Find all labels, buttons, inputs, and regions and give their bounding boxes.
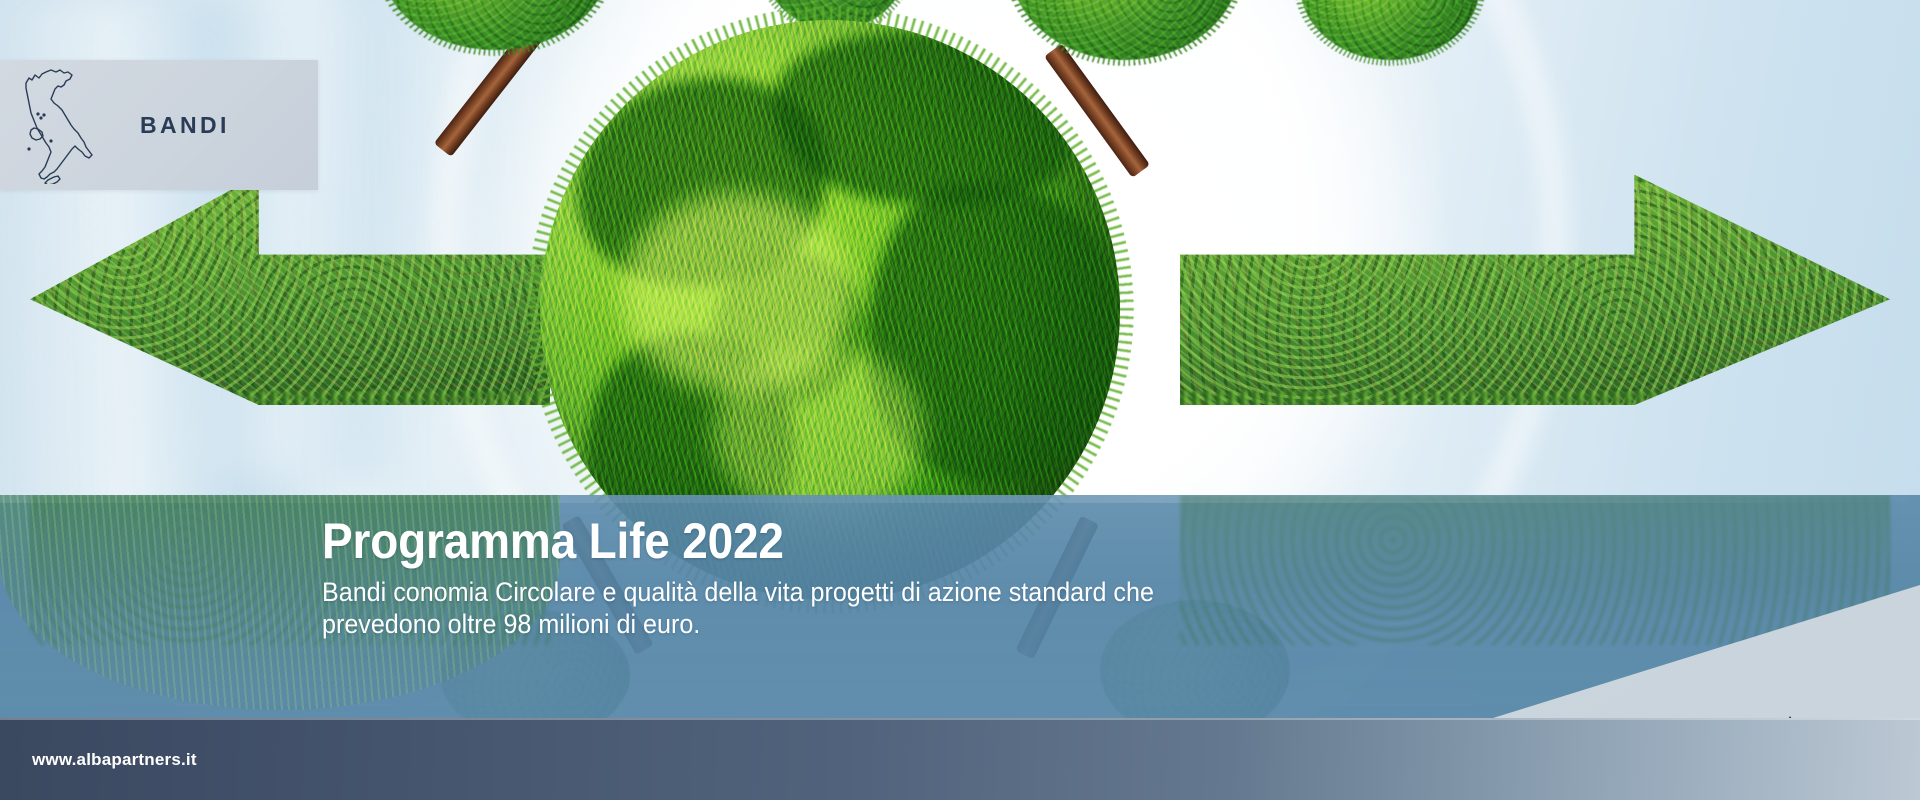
- hero-subtitle-line-2: prevedono oltre 98 milioni di euro.: [322, 609, 700, 639]
- bandi-badge-label: BANDI: [140, 112, 230, 139]
- banner-root: Programma Life 2022 Bandi conomia Circol…: [0, 0, 1920, 800]
- footer-bar: www.albapartners.it: [0, 718, 1920, 800]
- hero-copy: Programma Life 2022 Bandi conomia Circol…: [322, 515, 1322, 641]
- bandi-badge[interactable]: BANDI: [0, 60, 318, 190]
- italy-map-icon: [18, 66, 110, 184]
- page-title: Programma Life 2022: [322, 515, 1242, 568]
- hero-subtitle: Bandi conomia Circolare e qualità della …: [322, 577, 1252, 641]
- hero-subtitle-line-1: Bandi conomia Circolare e qualità della …: [322, 577, 1154, 607]
- footer-website-url[interactable]: www.albapartners.it: [32, 750, 197, 770]
